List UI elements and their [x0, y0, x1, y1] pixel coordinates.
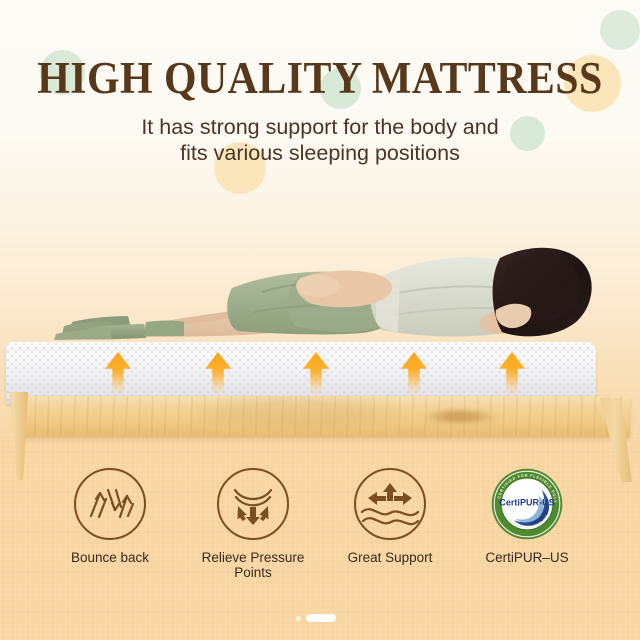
feature-label: CertiPUR–US: [462, 550, 592, 565]
feature-great-support[interactable]: Great Support: [325, 468, 455, 565]
woman-lying-on-side: [0, 236, 640, 346]
wooden-bed-frame-rail: [22, 396, 630, 437]
subtitle-line-2: fits various sleeping positions: [0, 140, 640, 166]
mint-blob-far-right: [600, 10, 640, 50]
feature-bounce-back[interactable]: Bounce back: [45, 468, 175, 565]
great-support-icon: [354, 468, 426, 540]
bounce-back-icon: [74, 468, 146, 540]
feature-label: Relieve Pressure Points: [188, 550, 318, 580]
subtitle-line-1: It has strong support for the body and: [0, 114, 640, 140]
carousel-pagination[interactable]: [0, 612, 640, 626]
product-image-canvas: HIGH QUALITY MATTRESS It has strong supp…: [0, 0, 640, 640]
feature-certipur-us[interactable]: CERTIFIED FOR FLEXIBLE POLYURETHANE FOAM…: [462, 468, 592, 565]
pager-dot-1[interactable]: [296, 616, 301, 621]
feature-label: Bounce back: [45, 550, 175, 565]
relieve-pressure-icon: [217, 468, 289, 540]
page-subtitle: It has strong support for the body and f…: [0, 114, 640, 166]
certipur-us-badge: CERTIFIED FOR FLEXIBLE POLYURETHANE FOAM…: [491, 468, 563, 540]
bed-assembly: [0, 330, 640, 460]
feature-list: Bounce back Relieve P: [0, 468, 640, 593]
person-illustration: [0, 236, 640, 346]
feature-relieve-pressure-points[interactable]: Relieve Pressure Points: [188, 468, 318, 580]
feature-label: Great Support: [325, 550, 455, 565]
page-title: HIGH QUALITY MATTRESS: [22, 56, 617, 101]
pager-pill-active[interactable]: [306, 614, 336, 622]
svg-text:CertiPUR-US: CertiPUR-US: [499, 497, 554, 507]
